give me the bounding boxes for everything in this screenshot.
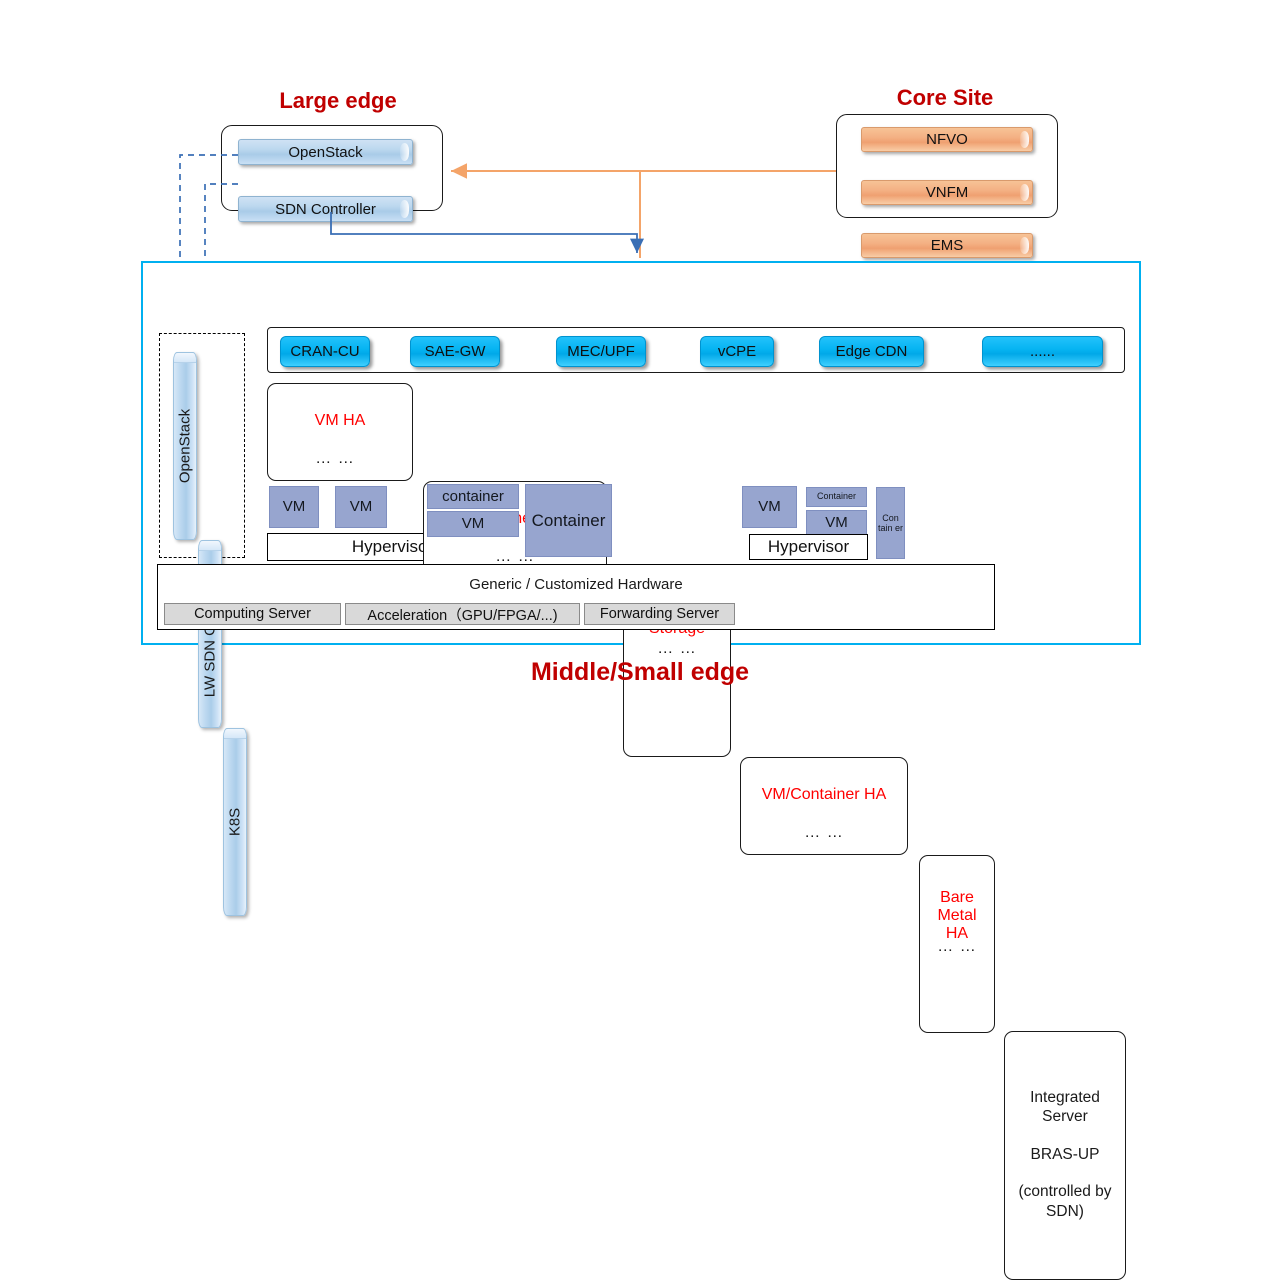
vm-block[interactable]: VM — [742, 486, 797, 528]
hw-forwarding-server[interactable]: Forwarding Server — [584, 603, 735, 625]
pillar-openstack-label: OpenStack — [177, 409, 194, 483]
card-integrated-server: Integrated Server BRAS-UP (controlled by… — [1004, 1031, 1126, 1280]
vm-block[interactable]: VM — [335, 486, 387, 528]
control-plane-group: OpenStack LW SDN Controller K8S — [159, 333, 245, 558]
vnf-edge-cdn-label: Edge CDN — [836, 343, 908, 360]
hw-acceleration[interactable]: Acceleration（GPU/FPGA/...) — [345, 603, 580, 625]
hw-forwarding-server-label: Forwarding Server — [600, 606, 719, 622]
vnf-more-label: ...... — [1030, 343, 1055, 360]
hardware-title: Generic / Customized Hardware — [158, 576, 994, 593]
card-vm-container-ha: VM/Container HA … … — [740, 757, 908, 855]
core-site-title: Core Site — [845, 85, 1045, 111]
pillar-cap — [174, 353, 196, 363]
core-site-nfvo-label: NFVO — [926, 131, 968, 148]
card-bare-metal-ha: Bare Metal HA … … — [919, 855, 995, 1033]
card-vm-ha-title: VM HA — [268, 412, 412, 430]
core-site-ems[interactable]: EMS — [861, 233, 1033, 258]
large-edge-sdn-controller-label: SDN Controller — [275, 201, 376, 218]
vm-block-label: VM — [462, 516, 485, 532]
bottom-title: Middle/Small edge — [440, 658, 840, 687]
vm-block-label: VM — [825, 515, 848, 531]
card-vm-container-ha-dots: … … — [741, 824, 907, 842]
vm-block-label: VM — [350, 499, 373, 515]
card-vm-ha: VM HA … … — [267, 383, 413, 481]
pillar-cap — [224, 729, 246, 739]
hw-acceleration-label: Acceleration（GPU/FPGA/...) — [367, 604, 557, 625]
hardware-box: Generic / Customized Hardware Computing … — [157, 564, 995, 630]
core-site-box: NFVO VNFM EMS — [836, 114, 1058, 218]
pillar-k8s[interactable]: K8S — [223, 728, 247, 916]
spacer — [1005, 1127, 1125, 1145]
container-block-label: container — [442, 489, 504, 505]
card-bare-metal-ha-dots: … … — [920, 938, 994, 956]
card-bare-metal-ha-title-line2: Metal — [920, 907, 994, 925]
vm-block[interactable]: VM — [269, 486, 319, 528]
vm-block-label: VM — [283, 499, 306, 515]
large-edge-box: OpenStack SDN Controller — [221, 125, 443, 211]
vnf-more[interactable]: ...... — [982, 336, 1103, 367]
card-vm-container-ha-title: VM/Container HA — [741, 786, 907, 804]
integrated-server-line1: Integrated — [1005, 1088, 1125, 1107]
card-vm-ha-dots: … … — [268, 450, 402, 468]
container-block-lowercase[interactable]: container — [427, 484, 519, 509]
hw-computing-server-label: Computing Server — [194, 606, 311, 622]
hypervisor-label: Hypervisor — [352, 537, 433, 557]
vnf-cran-cu[interactable]: CRAN-CU — [280, 336, 370, 367]
large-edge-sdn-controller[interactable]: SDN Controller — [238, 196, 413, 222]
vnf-mec-upf[interactable]: MEC/UPF — [556, 336, 646, 367]
core-site-ems-label: EMS — [931, 237, 964, 254]
container-block-label: Con tain er — [877, 513, 904, 534]
pillar-openstack[interactable]: OpenStack — [173, 352, 197, 540]
container-block-small[interactable]: Container — [806, 487, 867, 507]
container-block-label: Container — [532, 512, 606, 530]
hw-computing-server[interactable]: Computing Server — [164, 603, 341, 625]
vm-block-label: VM — [758, 499, 781, 515]
container-block-label: Container — [817, 492, 856, 501]
hypervisor-right[interactable]: Hypervisor — [749, 534, 868, 560]
vm-block[interactable]: VM — [427, 511, 519, 537]
vm-block[interactable]: VM — [806, 510, 867, 535]
vnf-cran-cu-label: CRAN-CU — [290, 343, 359, 360]
integrated-server-line2: Server — [1005, 1107, 1125, 1126]
card-bare-metal-ha-title-line1: Bare — [920, 889, 994, 907]
pillar-cap — [199, 541, 221, 551]
integrated-server-line3: BRAS-UP — [1005, 1145, 1125, 1164]
vnf-row: CRAN-CU SAE-GW MEC/UPF vCPE Edge CDN ...… — [267, 327, 1125, 373]
vnf-vcpe[interactable]: vCPE — [700, 336, 774, 367]
pillar-k8s-label: K8S — [227, 808, 244, 836]
vnf-vcpe-label: vCPE — [718, 343, 756, 360]
card-distributed-storage-dots: … … — [624, 640, 730, 658]
large-edge-openstack-label: OpenStack — [288, 144, 362, 161]
core-site-vnfm-label: VNFM — [926, 184, 969, 201]
integrated-server-text: Integrated Server BRAS-UP (controlled by… — [1005, 1088, 1125, 1221]
core-site-vnfm[interactable]: VNFM — [861, 180, 1033, 205]
hypervisor-label: Hypervisor — [768, 537, 849, 557]
vnf-sae-gw-label: SAE-GW — [425, 343, 486, 360]
large-edge-openstack[interactable]: OpenStack — [238, 139, 413, 165]
large-edge-title: Large edge — [238, 88, 438, 114]
integrated-server-line4: (controlled by — [1005, 1182, 1125, 1201]
container-block-stacked[interactable]: Con tain er — [876, 487, 905, 559]
vnf-mec-upf-label: MEC/UPF — [567, 343, 635, 360]
core-site-nfvo[interactable]: NFVO — [861, 127, 1033, 152]
spacer — [1005, 1164, 1125, 1182]
vnf-edge-cdn[interactable]: Edge CDN — [819, 336, 924, 367]
container-block[interactable]: Container — [525, 484, 612, 557]
card-bare-metal-ha-title: Bare Metal HA — [920, 889, 994, 943]
integrated-server-line5: SDN) — [1005, 1202, 1125, 1221]
vnf-sae-gw[interactable]: SAE-GW — [410, 336, 500, 367]
orange-connector — [451, 171, 836, 258]
